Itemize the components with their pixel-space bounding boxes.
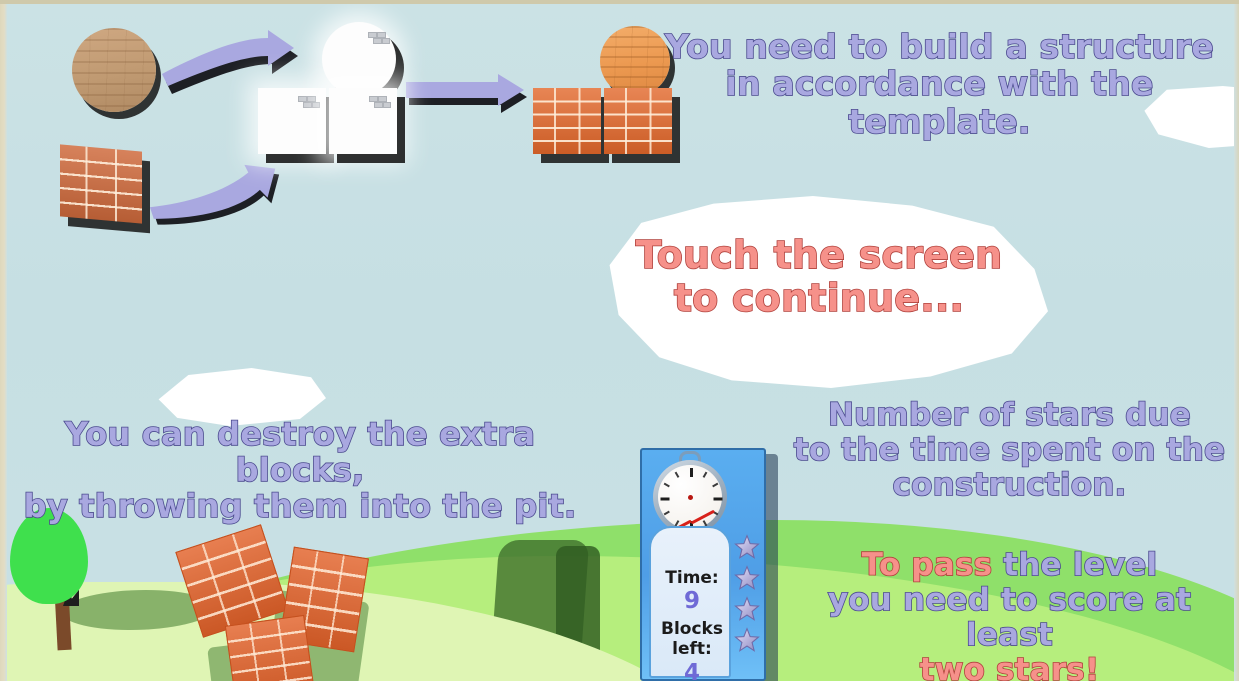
pass-level-text: To pass the level you need to score at l… (780, 548, 1239, 681)
result-brick-left[interactable] (533, 88, 601, 154)
blocks-left-label: Blocks left: (651, 620, 733, 659)
brick-piece-icon (368, 32, 390, 46)
stopwatch-pin (688, 495, 693, 500)
template-circle[interactable] (322, 22, 396, 96)
brick-piece-icon (298, 96, 320, 110)
screen-edge-left (0, 0, 7, 681)
destroy-blocks-text: You can destroy the extra blocks, by thr… (0, 416, 600, 524)
time-value: 9 (651, 588, 733, 614)
blocks-left-value: 4 (651, 660, 733, 681)
pass-level-highlight-2: two stars! (920, 652, 1100, 681)
build-instruction-text: You need to build a structure in accorda… (640, 28, 1239, 140)
brick-square-block[interactable] (60, 144, 142, 223)
stars-explanation-text: Number of stars due to the time spent on… (780, 398, 1239, 503)
pass-level-highlight-1: To pass (862, 547, 993, 583)
game-hud-panel: Time: 9 Blocks left: 4 (640, 448, 772, 681)
stopwatch-face (658, 465, 722, 529)
screen-edge-top (0, 0, 1239, 4)
screen-edge-right (1234, 0, 1239, 681)
template-square-right[interactable] (329, 88, 397, 154)
star-icon-2 (734, 565, 760, 591)
hud-body: Time: 9 Blocks left: 4 (640, 448, 766, 681)
stopwatch-icon (653, 460, 727, 534)
game-screen[interactable]: You need to build a structure in accorda… (0, 0, 1239, 681)
star-rating-column (734, 534, 764, 658)
time-label: Time: (651, 568, 733, 588)
brick-piece-icon (369, 96, 391, 110)
tutorial-arrow-1 (160, 28, 300, 90)
hud-readout-panel: Time: 9 Blocks left: 4 (649, 526, 731, 678)
tutorial-arrow-3 (406, 74, 526, 118)
tutorial-arrow-2 (148, 156, 283, 218)
template-square-left[interactable] (258, 88, 326, 154)
wood-circle-block[interactable] (72, 28, 156, 112)
star-icon-3 (734, 596, 760, 622)
star-icon-4 (734, 627, 760, 653)
star-icon-1 (734, 534, 760, 560)
fallen-brick-block[interactable] (225, 615, 315, 681)
touch-to-continue-text[interactable]: Touch the screen to continue... (618, 234, 1020, 320)
